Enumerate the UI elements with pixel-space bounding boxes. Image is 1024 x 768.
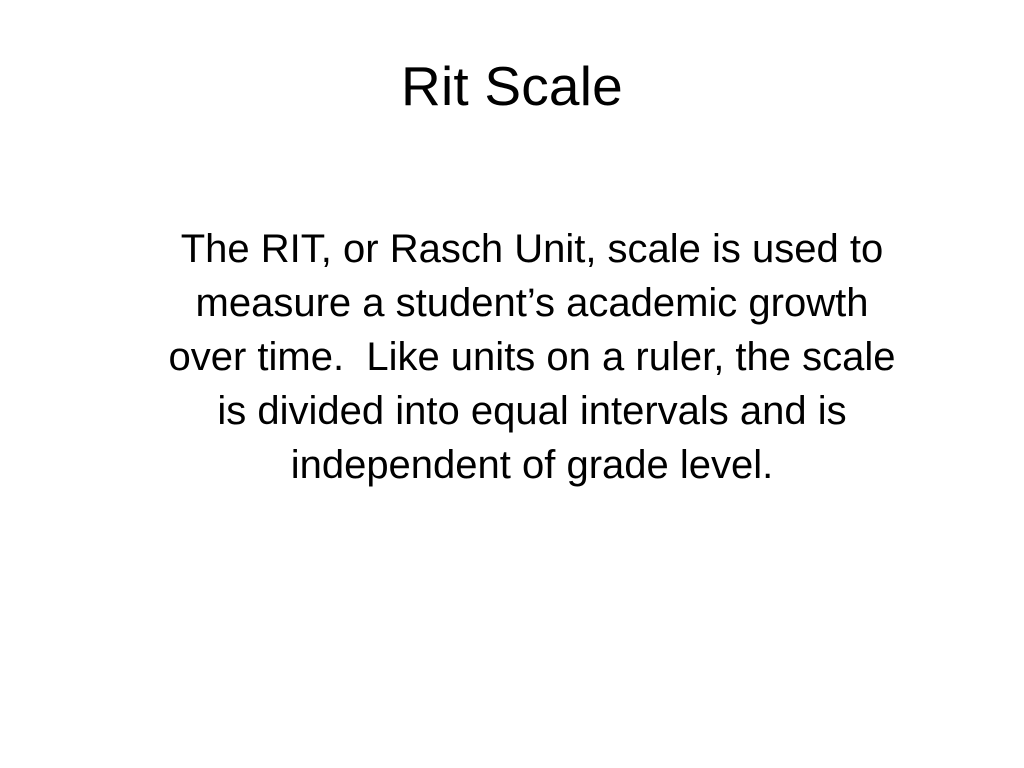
body-line: independent of grade level.	[96, 438, 968, 492]
slide-body-text: The RIT, or Rasch Unit, scale is used to…	[96, 222, 968, 492]
page-title: Rit Scale	[0, 52, 1024, 120]
body-line: measure a student’s academic growth	[96, 276, 968, 330]
body-line: is divided into equal intervals and is	[96, 384, 968, 438]
body-line: over time. Like units on a ruler, the sc…	[96, 330, 968, 384]
body-line: The RIT, or Rasch Unit, scale is used to	[96, 222, 968, 276]
presentation-slide: Rit Scale The RIT, or Rasch Unit, scale …	[0, 0, 1024, 768]
